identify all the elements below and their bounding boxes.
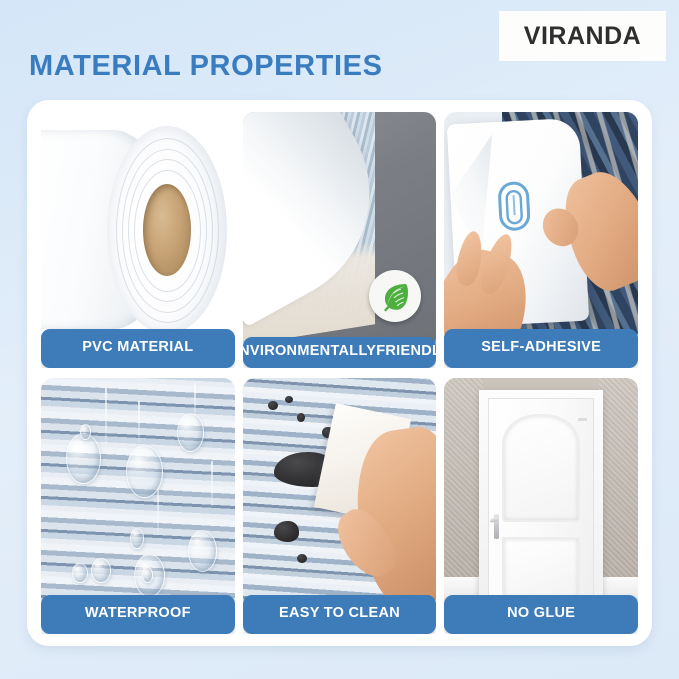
water-drip-shape xyxy=(211,461,213,507)
water-drip-shape xyxy=(157,484,159,535)
white-door-image xyxy=(444,378,638,609)
features-grid: PVC MATERIAL xyxy=(41,112,638,634)
page-title: MATERIAL PROPERTIES xyxy=(29,50,383,83)
pvc-core-shape xyxy=(143,184,191,275)
feature-label-waterproof: WATERPROOF xyxy=(41,595,235,634)
door-handle-icon xyxy=(494,514,499,539)
hands-peeling-backing-image xyxy=(444,112,638,343)
brand-badge: VIRANDA xyxy=(499,11,666,61)
wall-right-shape xyxy=(599,378,638,577)
leaf-icon xyxy=(379,280,411,312)
eco-badge xyxy=(369,270,421,322)
door-slab-shape xyxy=(488,398,595,609)
feature-card-environmentally-friendly[interactable]: ENVIRONMENTALLY FRIENDLY xyxy=(243,112,437,368)
pvc-roll-shape xyxy=(107,126,227,334)
wall-left-shape xyxy=(444,378,483,577)
stain-shape xyxy=(297,554,307,563)
feature-label-pvc-material: PVC MATERIAL xyxy=(41,329,235,368)
brand-name: VIRANDA xyxy=(524,22,641,51)
stain-shape xyxy=(268,401,278,410)
feature-label-line1: ENVIRONMENTALLY xyxy=(243,344,377,360)
pvc-roll-image xyxy=(41,112,235,343)
water-droplets-image xyxy=(41,378,235,609)
water-drip-shape xyxy=(138,401,140,443)
water-drop-shape xyxy=(72,563,88,583)
features-panel: PVC MATERIAL xyxy=(27,100,652,646)
water-drop-shape xyxy=(188,530,217,571)
feature-card-no-glue[interactable]: NO GLUE xyxy=(444,378,638,634)
water-drop-shape xyxy=(126,445,163,498)
water-drop-shape xyxy=(177,413,204,452)
feature-card-easy-to-clean[interactable]: EASY TO CLEAN xyxy=(243,378,437,634)
stain-shape xyxy=(274,521,299,542)
stain-shape xyxy=(297,413,305,422)
water-drop-shape xyxy=(66,433,101,484)
feature-label-no-glue: NO GLUE xyxy=(444,595,638,634)
door-frame-shape xyxy=(479,390,603,609)
water-drip-shape xyxy=(105,387,107,447)
door-panel-top-shape xyxy=(502,414,579,523)
door-hinge-icon xyxy=(578,418,587,421)
water-drop-shape xyxy=(130,528,144,548)
paperclip-icon xyxy=(489,177,538,235)
hand-wiping-stain-image xyxy=(243,378,437,609)
peel-corner-shape xyxy=(298,112,339,121)
water-drop-shape xyxy=(91,558,110,583)
door-panel-bottom-shape xyxy=(502,537,579,600)
feature-label-line2: FRIENDLY xyxy=(376,344,436,360)
feature-label-easy-to-clean: EASY TO CLEAN xyxy=(243,595,437,634)
feature-card-self-adhesive[interactable]: SELF-ADHESIVE xyxy=(444,112,638,368)
material-properties-infographic: VIRANDA MATERIAL PROPERTIES PVC MATERIAL xyxy=(0,0,679,679)
peeling-print-image xyxy=(243,112,437,351)
feature-card-pvc-material[interactable]: PVC MATERIAL xyxy=(41,112,235,368)
feature-card-waterproof[interactable]: WATERPROOF xyxy=(41,378,235,634)
feature-label-environmentally-friendly: ENVIRONMENTALLY FRIENDLY xyxy=(243,337,437,368)
feature-label-self-adhesive: SELF-ADHESIVE xyxy=(444,329,638,368)
